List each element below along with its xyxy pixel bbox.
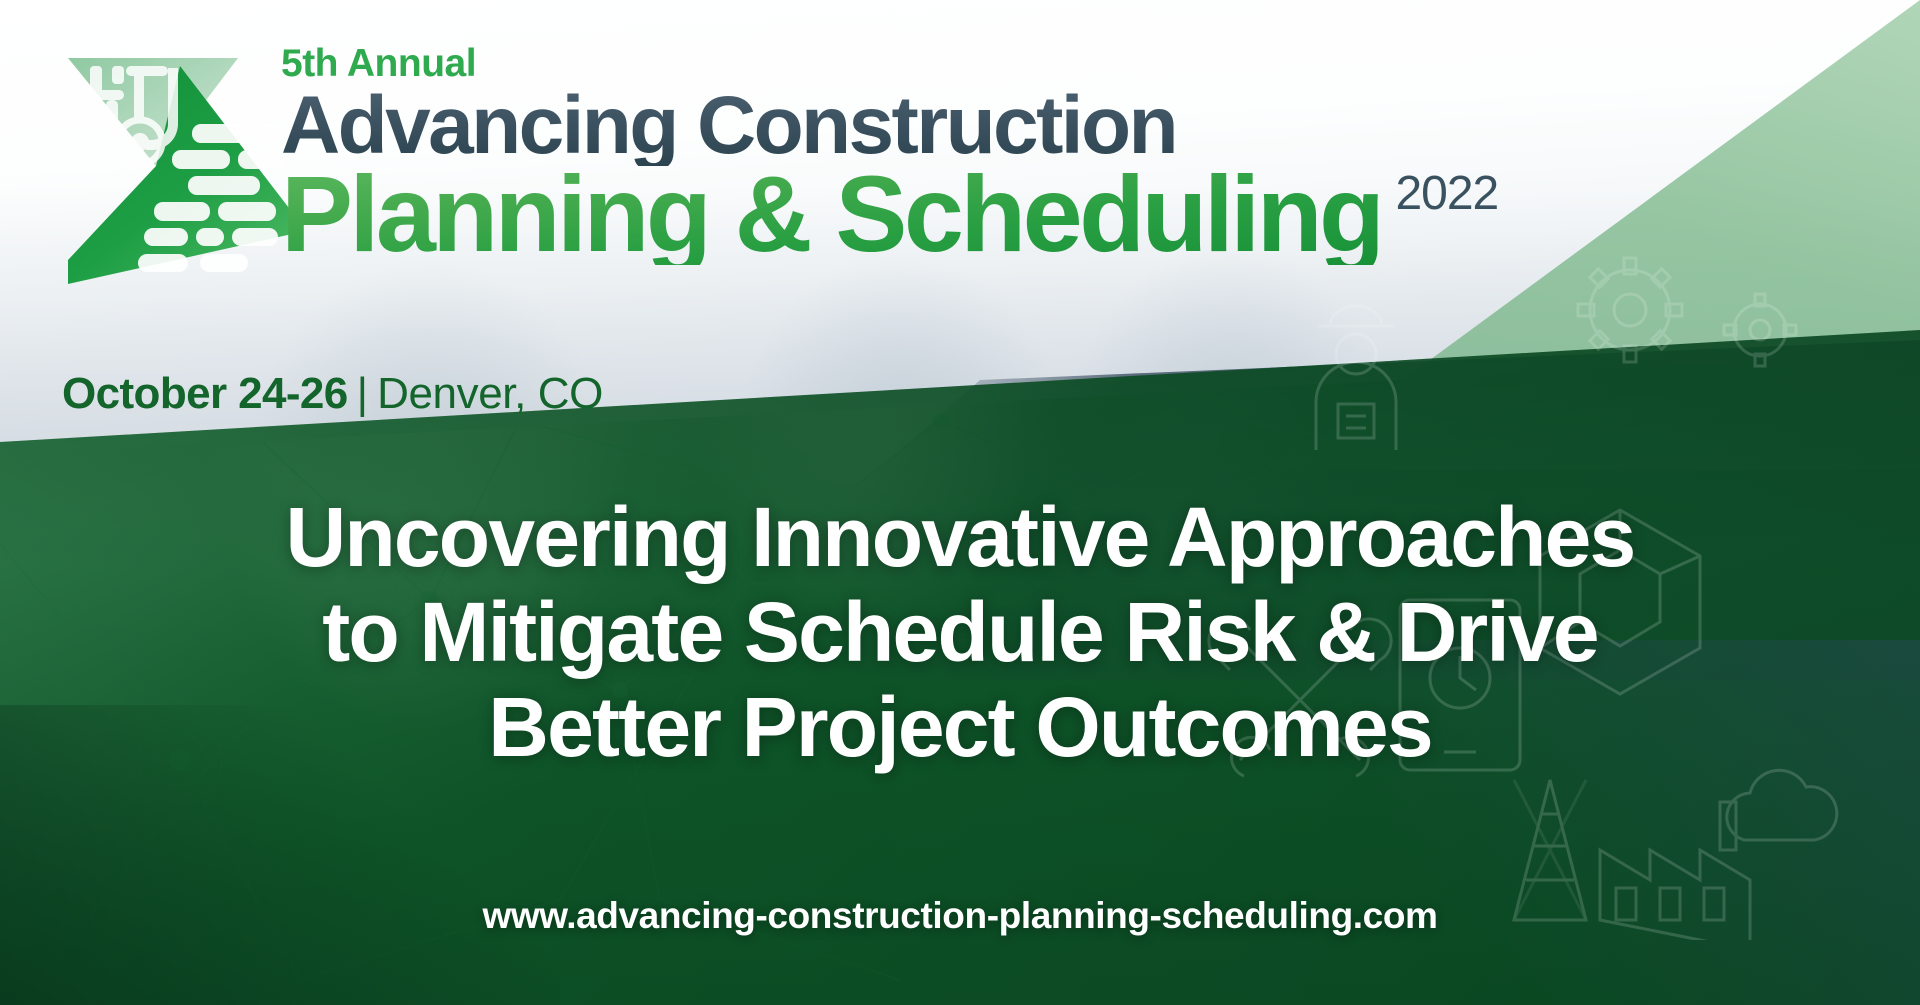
event-dates: October 24-26 bbox=[62, 369, 348, 418]
event-year: 2022 bbox=[1395, 166, 1498, 221]
headline-line-3: Better Project Outcomes bbox=[0, 680, 1920, 775]
event-headline: Uncovering Innovative Approaches to Miti… bbox=[0, 490, 1920, 775]
event-title-line2: Planning & Scheduling bbox=[281, 162, 1381, 266]
event-date-location: October 24-26|Denver, CO bbox=[62, 372, 603, 416]
worker-icon bbox=[1316, 306, 1396, 450]
event-website-url[interactable]: www.advancing-construction-planning-sche… bbox=[0, 895, 1920, 937]
conference-banner: 5th Annual Advancing Construction Planni… bbox=[0, 0, 1920, 1005]
annual-label: 5th Annual bbox=[281, 44, 1498, 83]
date-location-separator: | bbox=[357, 369, 368, 418]
header-text-block: 5th Annual Advancing Construction Planni… bbox=[281, 44, 1498, 265]
gear-icon-small bbox=[1724, 294, 1796, 366]
brand-logo bbox=[60, 38, 292, 288]
headline-line-2: to Mitigate Schedule Risk & Drive bbox=[0, 585, 1920, 680]
headline-line-1: Uncovering Innovative Approaches bbox=[0, 490, 1920, 585]
event-location: Denver, CO bbox=[377, 369, 603, 418]
gear-icon bbox=[1578, 258, 1682, 362]
cloud-icon bbox=[1727, 770, 1837, 840]
